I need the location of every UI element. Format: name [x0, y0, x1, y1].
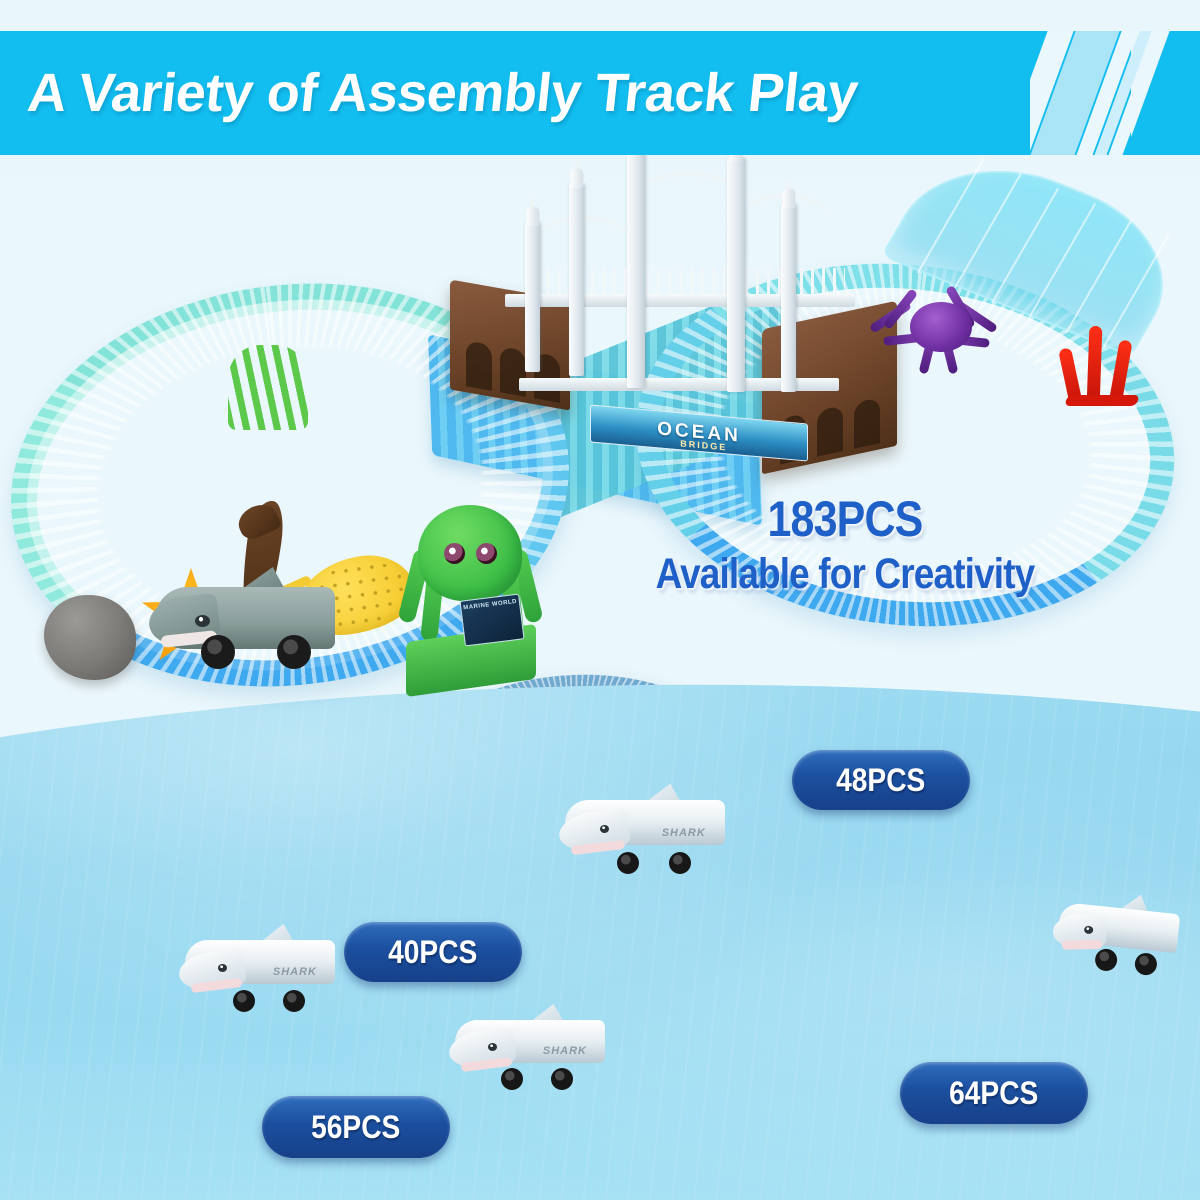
bridge-tower-cap: [526, 206, 539, 226]
shark-car-wheel: [617, 852, 639, 874]
purple-octopus-accessory: [880, 280, 1000, 370]
gray-rock-accessory: [44, 595, 136, 680]
banner-title: A Variety of Assembly Track Play: [25, 62, 861, 124]
white-shark-car-56: SHARK: [455, 1010, 605, 1086]
marine-world-sign: MARINE WORLD: [459, 594, 524, 647]
coral-base: [1064, 395, 1140, 406]
bridge-tower: [569, 184, 584, 376]
white-shark-car-48: SHARK: [565, 790, 725, 870]
octopus-head: [418, 505, 522, 601]
white-shark-car-64: [1055, 892, 1182, 974]
shark-car-wheel: [283, 990, 305, 1012]
shark-car-wheel: [501, 1068, 523, 1090]
pier-arch: [466, 340, 492, 391]
header-banner: A Variety of Assembly Track Play: [0, 31, 1131, 155]
green-octopus-gate: MARINE WORLD: [400, 505, 550, 695]
green-seaweed: [228, 345, 308, 430]
pieces-headline: 183PCS Available for Creativity: [595, 490, 1095, 599]
badge-48pcs-label: 48PCS: [836, 762, 925, 799]
badge-64pcs: 64PCS: [900, 1062, 1088, 1124]
banner-diagonal-stripes: [1030, 31, 1200, 155]
pier-arch: [817, 405, 843, 457]
badge-48pcs: 48PCS: [792, 750, 970, 810]
shark-car-wheel: [233, 990, 255, 1012]
purple-octopus-head: [910, 302, 972, 352]
shark-car-wheel: [201, 635, 235, 669]
white-shark-car-40: SHARK: [185, 930, 335, 1008]
pier-arch: [854, 397, 880, 449]
badge-56pcs: 56PCS: [262, 1096, 450, 1158]
shark-car-wheel: [551, 1068, 573, 1090]
white-suspension-bridge: OCEAN BRIDGE: [505, 142, 855, 402]
tunnel-rib: [917, 158, 985, 273]
octopus-eye: [476, 543, 497, 564]
bridge-tower-main: [627, 148, 645, 388]
badge-56pcs-label: 56PCS: [311, 1109, 400, 1146]
octopus-eye: [444, 543, 465, 564]
assembled-track-scene: OCEAN BRIDGE: [0, 120, 1200, 720]
shark-car-label: SHARK: [662, 827, 706, 839]
bridge-tower-cap: [782, 188, 795, 208]
shark-car-label: SHARK: [543, 1045, 587, 1057]
shark-car-wheel: [277, 635, 311, 669]
shark-eye: [195, 615, 210, 627]
gray-shark-car: [155, 565, 335, 665]
total-pieces-count: 183PCS: [630, 490, 1060, 548]
red-coral-accessory: [1062, 320, 1152, 406]
bridge-tower: [781, 204, 796, 392]
product-infographic: A Variety of Assembly Track Play: [0, 0, 1200, 1200]
bridge-tower-cap: [570, 168, 583, 188]
badge-64pcs-label: 64PCS: [949, 1075, 1038, 1112]
creativity-tagline: Available for Creativity: [630, 550, 1060, 599]
marine-world-sign-label: MARINE WORLD: [463, 599, 517, 612]
shark-car-wheel: [669, 852, 691, 874]
bridge-deck: [505, 294, 855, 307]
shark-car-label: SHARK: [273, 966, 317, 978]
bridge-tower: [525, 222, 540, 372]
badge-40pcs-label: 40PCS: [388, 934, 477, 971]
bridge-tower-main: [727, 158, 745, 392]
badge-40pcs: 40PCS: [344, 922, 522, 982]
shark-mouth: [1061, 940, 1102, 950]
